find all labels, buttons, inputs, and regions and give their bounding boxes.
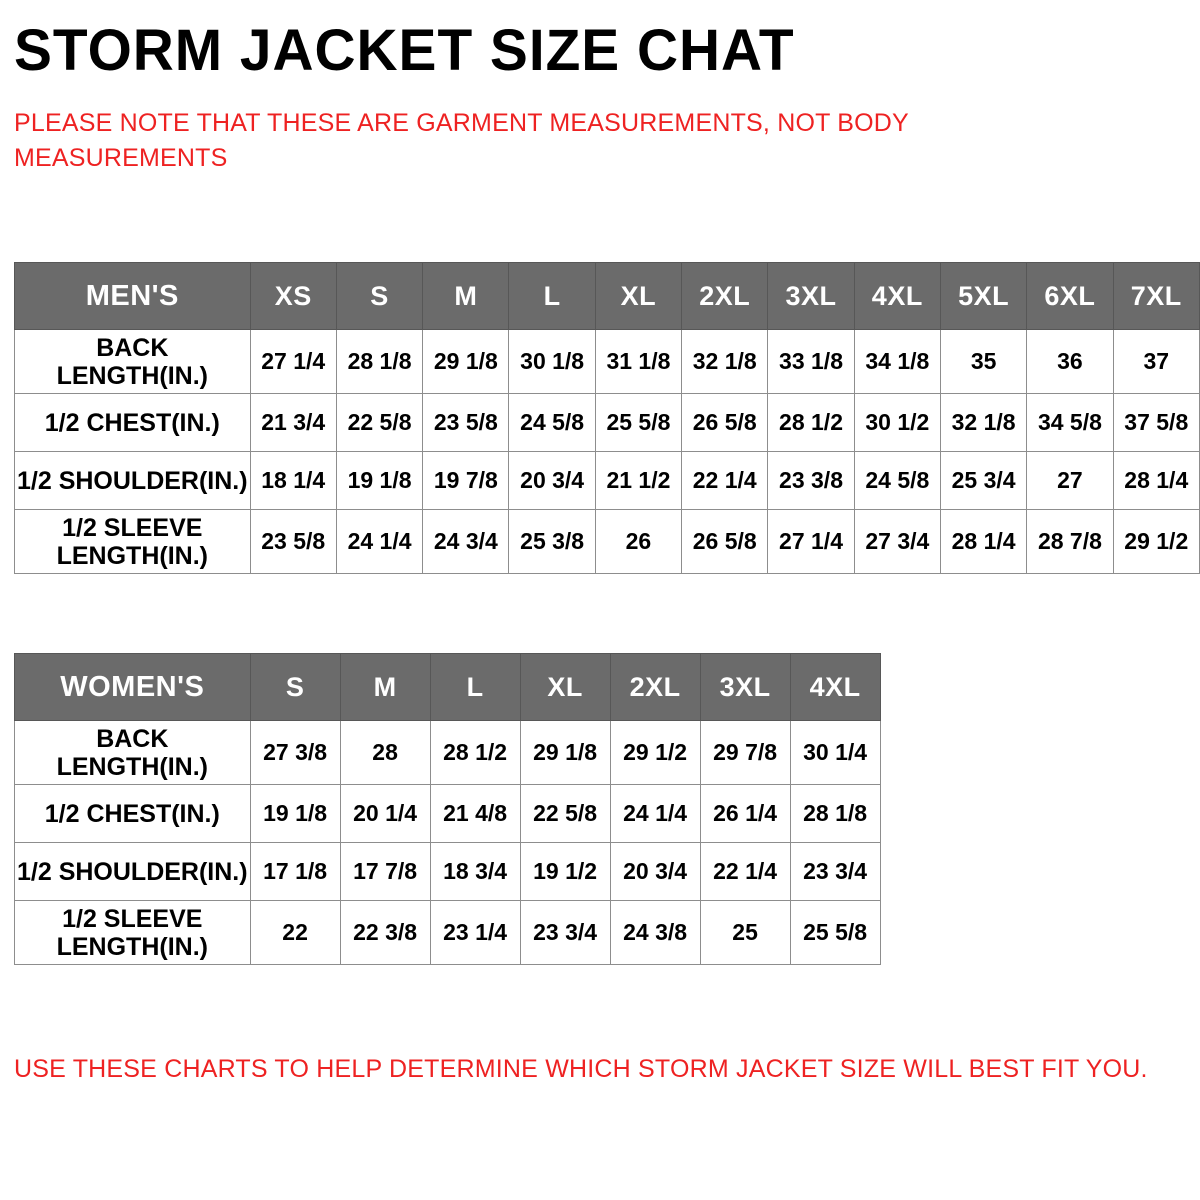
size-column-header-xl: XL xyxy=(595,263,681,330)
measurement-cell: 37 xyxy=(1113,330,1199,394)
size-column-header-l: L xyxy=(430,654,520,721)
measurement-cell: 25 3/4 xyxy=(940,452,1026,510)
measurement-cell: 24 1/4 xyxy=(336,510,422,574)
measurement-cell: 20 3/4 xyxy=(509,452,595,510)
measurement-cell: 28 7/8 xyxy=(1027,510,1113,574)
row-label-line1: 1/2 SLEEVE xyxy=(17,905,248,933)
measurement-cell: 25 5/8 xyxy=(790,901,880,965)
measurement-cell: 34 1/8 xyxy=(854,330,940,394)
measurement-cell: 34 5/8 xyxy=(1027,394,1113,452)
measurement-cell: 30 1/2 xyxy=(854,394,940,452)
measurement-cell: 29 1/8 xyxy=(520,721,610,785)
measurement-cell: 25 xyxy=(700,901,790,965)
measurement-cell: 21 1/2 xyxy=(595,452,681,510)
measurement-cell: 27 3/8 xyxy=(250,721,340,785)
size-column-header-2xl: 2XL xyxy=(610,654,700,721)
measurement-cell: 36 xyxy=(1027,330,1113,394)
footer-note: USE THESE CHARTS TO HELP DETERMINE WHICH… xyxy=(14,1055,1148,1084)
measurement-cell: 17 7/8 xyxy=(340,843,430,901)
size-column-header-xs: XS xyxy=(250,263,336,330)
measurement-cell: 22 xyxy=(250,901,340,965)
measurement-cell: 22 3/8 xyxy=(340,901,430,965)
measurement-cell: 27 xyxy=(1027,452,1113,510)
measurement-cell: 28 1/4 xyxy=(1113,452,1199,510)
measurement-row-label: 1/2 SHOULDER(IN.) xyxy=(15,452,251,510)
measurement-cell: 27 1/4 xyxy=(768,510,854,574)
table-row: 1/2 SLEEVELENGTH(IN.)23 5/824 1/424 3/42… xyxy=(15,510,1200,574)
size-column-header-xl: XL xyxy=(520,654,610,721)
table-header-row: WOMEN'SSMLXL2XL3XL4XL xyxy=(15,654,881,721)
size-column-header-4xl: 4XL xyxy=(854,263,940,330)
measurement-cell: 22 1/4 xyxy=(700,843,790,901)
size-column-header-2xl: 2XL xyxy=(682,263,768,330)
row-label-line1: 1/2 SLEEVE xyxy=(17,514,248,542)
measurement-cell: 30 1/8 xyxy=(509,330,595,394)
measurement-cell: 22 5/8 xyxy=(336,394,422,452)
measurement-cell: 23 1/4 xyxy=(430,901,520,965)
size-column-header-5xl: 5XL xyxy=(940,263,1026,330)
mens-size-table-wrapper: MEN'SXSSMLXL2XL3XL4XL5XL6XL7XL BACKLENGT… xyxy=(14,262,1200,574)
table-row: 1/2 SHOULDER(IN.)17 1/817 7/818 3/419 1/… xyxy=(15,843,881,901)
row-label-line2: LENGTH(IN.) xyxy=(17,753,248,781)
measurement-row-label: 1/2 CHEST(IN.) xyxy=(15,394,251,452)
measurement-cell: 23 5/8 xyxy=(250,510,336,574)
measurement-cell: 18 3/4 xyxy=(430,843,520,901)
measurement-row-label: 1/2 SHOULDER(IN.) xyxy=(15,843,251,901)
measurement-cell: 26 1/4 xyxy=(700,785,790,843)
size-column-header-3xl: 3XL xyxy=(700,654,790,721)
measurement-cell: 32 1/8 xyxy=(940,394,1026,452)
row-label-line1: BACK xyxy=(17,725,248,753)
measurement-cell: 21 3/4 xyxy=(250,394,336,452)
size-column-header-7xl: 7XL xyxy=(1113,263,1199,330)
measurement-cell: 28 xyxy=(340,721,430,785)
measurement-cell: 30 1/4 xyxy=(790,721,880,785)
measurement-cell: 20 1/4 xyxy=(340,785,430,843)
measurement-cell: 23 5/8 xyxy=(423,394,509,452)
measurement-cell: 25 3/8 xyxy=(509,510,595,574)
size-column-header-m: M xyxy=(423,263,509,330)
measurement-cell: 18 1/4 xyxy=(250,452,336,510)
measurement-cell: 26 xyxy=(595,510,681,574)
size-chart-page: STORM JACKET SIZE CHAT PLEASE NOTE THAT … xyxy=(0,0,1200,1200)
table-row: 1/2 CHEST(IN.)19 1/820 1/421 4/822 5/824… xyxy=(15,785,881,843)
measurement-cell: 28 1/8 xyxy=(790,785,880,843)
measurement-cell: 32 1/8 xyxy=(682,330,768,394)
garment-measurement-note: PLEASE NOTE THAT THESE ARE GARMENT MEASU… xyxy=(14,80,974,175)
measurement-cell: 37 5/8 xyxy=(1113,394,1199,452)
measurement-cell: 26 5/8 xyxy=(682,394,768,452)
measurement-cell: 28 1/2 xyxy=(768,394,854,452)
table-row: 1/2 CHEST(IN.)21 3/422 5/823 5/824 5/825… xyxy=(15,394,1200,452)
mens-table-header: MEN'SXSSMLXL2XL3XL4XL5XL6XL7XL xyxy=(15,263,1200,330)
measurement-row-label: 1/2 SLEEVELENGTH(IN.) xyxy=(15,901,251,965)
womens-table-body: BACKLENGTH(IN.)27 3/82828 1/229 1/829 1/… xyxy=(15,721,881,965)
measurement-cell: 33 1/8 xyxy=(768,330,854,394)
measurement-cell: 24 5/8 xyxy=(509,394,595,452)
measurement-cell: 28 1/2 xyxy=(430,721,520,785)
measurement-cell: 26 5/8 xyxy=(682,510,768,574)
row-label-line2: LENGTH(IN.) xyxy=(17,542,248,570)
womens-table-header: WOMEN'SSMLXL2XL3XL4XL xyxy=(15,654,881,721)
measurement-cell: 25 5/8 xyxy=(595,394,681,452)
measurement-cell: 24 3/8 xyxy=(610,901,700,965)
table-corner-label: WOMEN'S xyxy=(15,654,251,721)
mens-table-body: BACKLENGTH(IN.)27 1/428 1/829 1/830 1/83… xyxy=(15,330,1200,574)
measurement-cell: 31 1/8 xyxy=(595,330,681,394)
table-corner-label: MEN'S xyxy=(15,263,251,330)
table-row: 1/2 SLEEVELENGTH(IN.)2222 3/823 1/423 3/… xyxy=(15,901,881,965)
size-column-header-l: L xyxy=(509,263,595,330)
measurement-cell: 19 1/8 xyxy=(336,452,422,510)
womens-size-table: WOMEN'SSMLXL2XL3XL4XL BACKLENGTH(IN.)27 … xyxy=(14,653,881,965)
size-column-header-3xl: 3XL xyxy=(768,263,854,330)
measurement-cell: 23 3/4 xyxy=(520,901,610,965)
womens-size-table-wrapper: WOMEN'SSMLXL2XL3XL4XL BACKLENGTH(IN.)27 … xyxy=(14,653,881,965)
measurement-cell: 22 5/8 xyxy=(520,785,610,843)
measurement-row-label: 1/2 SLEEVELENGTH(IN.) xyxy=(15,510,251,574)
measurement-cell: 27 1/4 xyxy=(250,330,336,394)
measurement-cell: 29 1/2 xyxy=(610,721,700,785)
measurement-cell: 28 1/4 xyxy=(940,510,1026,574)
size-column-header-4xl: 4XL xyxy=(790,654,880,721)
row-label-line2: LENGTH(IN.) xyxy=(17,362,248,390)
measurement-cell: 21 4/8 xyxy=(430,785,520,843)
measurement-cell: 19 1/2 xyxy=(520,843,610,901)
table-header-row: MEN'SXSSMLXL2XL3XL4XL5XL6XL7XL xyxy=(15,263,1200,330)
table-row: BACKLENGTH(IN.)27 1/428 1/829 1/830 1/83… xyxy=(15,330,1200,394)
page-title: STORM JACKET SIZE CHAT xyxy=(14,0,1163,80)
measurement-cell: 19 7/8 xyxy=(423,452,509,510)
measurement-cell: 22 1/4 xyxy=(682,452,768,510)
measurement-cell: 19 1/8 xyxy=(250,785,340,843)
measurement-cell: 23 3/8 xyxy=(768,452,854,510)
measurement-cell: 29 1/2 xyxy=(1113,510,1199,574)
measurement-cell: 27 3/4 xyxy=(854,510,940,574)
measurement-row-label: 1/2 CHEST(IN.) xyxy=(15,785,251,843)
size-column-header-m: M xyxy=(340,654,430,721)
row-label-line1: BACK xyxy=(17,334,248,362)
mens-size-table: MEN'SXSSMLXL2XL3XL4XL5XL6XL7XL BACKLENGT… xyxy=(14,262,1200,574)
measurement-cell: 23 3/4 xyxy=(790,843,880,901)
measurement-cell: 35 xyxy=(940,330,1026,394)
measurement-cell: 29 1/8 xyxy=(423,330,509,394)
measurement-cell: 28 1/8 xyxy=(336,330,422,394)
measurement-row-label: BACKLENGTH(IN.) xyxy=(15,330,251,394)
row-label-line2: LENGTH(IN.) xyxy=(17,933,248,961)
measurement-cell: 29 7/8 xyxy=(700,721,790,785)
table-row: BACKLENGTH(IN.)27 3/82828 1/229 1/829 1/… xyxy=(15,721,881,785)
measurement-cell: 17 1/8 xyxy=(250,843,340,901)
measurement-cell: 24 3/4 xyxy=(423,510,509,574)
size-column-header-6xl: 6XL xyxy=(1027,263,1113,330)
measurement-cell: 24 1/4 xyxy=(610,785,700,843)
size-column-header-s: S xyxy=(250,654,340,721)
measurement-row-label: BACKLENGTH(IN.) xyxy=(15,721,251,785)
size-column-header-s: S xyxy=(336,263,422,330)
measurement-cell: 24 5/8 xyxy=(854,452,940,510)
table-row: 1/2 SHOULDER(IN.)18 1/419 1/819 7/820 3/… xyxy=(15,452,1200,510)
measurement-cell: 20 3/4 xyxy=(610,843,700,901)
